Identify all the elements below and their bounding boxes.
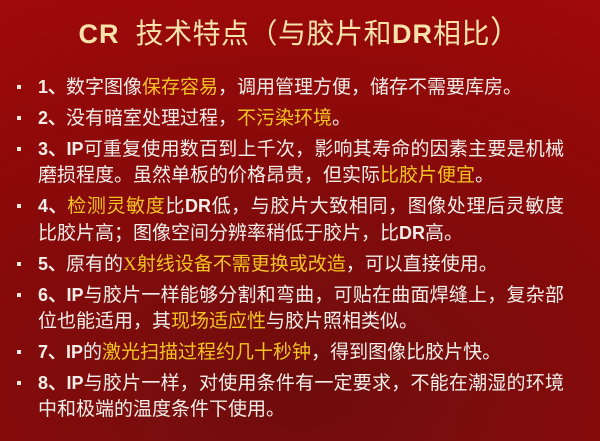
slide-title: CR技术特点（与胶片和DR相比） bbox=[0, 16, 600, 52]
bullet-item-text: 8、IP与胶片一样，对使用条件有一定要求，不能在潮湿的环境中和极端的温度条件下使… bbox=[38, 370, 564, 423]
title-segment-han: 相比 bbox=[433, 19, 490, 50]
text-run-latin: DR bbox=[399, 223, 425, 243]
text-run-highlight: 现场适应性 bbox=[171, 311, 266, 332]
text-run: ，可以直接使用。 bbox=[346, 254, 498, 275]
text-run: 。 bbox=[332, 108, 351, 129]
title-closing-paren: ） bbox=[490, 15, 522, 50]
text-run-latin: IP bbox=[66, 373, 83, 393]
text-run-latin: 7、 bbox=[38, 342, 66, 362]
bullet-item: 5、原有的X射线设备不需更换或改造，可以直接使用。 bbox=[0, 251, 600, 278]
bullet-marker-icon bbox=[17, 381, 21, 385]
text-run-latin: 4、 bbox=[38, 196, 67, 216]
text-run-highlight: 激光扫描过程约几十秒钟 bbox=[102, 342, 311, 363]
bullet-item: 6、IP与胶片一样能够分割和弯曲，可贴在曲面焊缝上，复杂部位也能适用，其现场适应… bbox=[0, 282, 600, 335]
text-run: 的 bbox=[83, 342, 102, 363]
text-run: 比 bbox=[165, 196, 185, 217]
bullet-item-text: 1、数字图像保存容易，调用管理方便，储存不需要库房。 bbox=[38, 74, 564, 101]
text-run-highlight: 保存容易 bbox=[142, 77, 218, 98]
bullet-marker-icon bbox=[17, 85, 21, 89]
bullet-marker-icon bbox=[17, 293, 21, 297]
bullet-item: 4、检测灵敏度比DR低，与胶片大致相同，图像处理后灵敏度比胶片高；图像空间分辨率… bbox=[0, 193, 600, 247]
text-run-latin: 3、 bbox=[38, 139, 66, 159]
text-run-latin: 6、 bbox=[38, 285, 66, 305]
text-run-latin: DR bbox=[185, 196, 211, 216]
text-run-highlight: X bbox=[123, 254, 137, 275]
bullet-list: 1、数字图像保存容易，调用管理方便，储存不需要库房。2、没有暗室处理过程，不污染… bbox=[0, 74, 600, 427]
text-run: 没有暗室处理过程， bbox=[66, 108, 237, 129]
title-segment-latin: DR bbox=[392, 19, 433, 49]
text-run-latin: 8、 bbox=[38, 373, 66, 393]
bullet-item: 7、IP的激光扫描过程约几十秒钟，得到图像比胶片快。 bbox=[0, 339, 600, 366]
bullet-item-text: 3、IP可重复使用数百到上千次，影响其寿命的因素主要是机械磨损程度。虽然单板的价… bbox=[38, 136, 564, 189]
text-run-latin: 1、 bbox=[38, 77, 66, 97]
bullet-marker-icon bbox=[17, 350, 21, 354]
title-segment-latin: CR bbox=[78, 19, 119, 49]
bullet-item: 8、IP与胶片一样，对使用条件有一定要求，不能在潮湿的环境中和极端的温度条件下使… bbox=[0, 370, 600, 423]
text-run-latin: IP bbox=[66, 285, 83, 305]
text-run-highlight: 不污染环境 bbox=[237, 108, 332, 129]
text-run: 与胶片一样，对使用条件有一定要求，不能在潮湿的环境中和极端的温度条件下使用。 bbox=[38, 373, 564, 420]
bullet-item-text: 5、原有的X射线设备不需更换或改造，可以直接使用。 bbox=[38, 251, 564, 278]
bullet-item-text: 6、IP与胶片一样能够分割和弯曲，可贴在曲面焊缝上，复杂部位也能适用，其现场适应… bbox=[38, 282, 564, 335]
bullet-marker-icon bbox=[17, 147, 21, 151]
text-run-highlight: 检测灵敏度 bbox=[67, 196, 165, 217]
bullet-item-text: 4、检测灵敏度比DR低，与胶片大致相同，图像处理后灵敏度比胶片高；图像空间分辨率… bbox=[38, 193, 564, 247]
text-run-latin: IP bbox=[66, 342, 83, 362]
text-run: ，得到图像比胶片快。 bbox=[311, 342, 501, 363]
bullet-marker-icon bbox=[17, 262, 21, 266]
text-run: ，调用管理方便，储存不需要库房。 bbox=[218, 77, 522, 98]
text-run: 与胶片照相类似。 bbox=[266, 311, 418, 332]
bullet-marker-icon bbox=[17, 204, 21, 208]
text-run: 原有的 bbox=[66, 254, 123, 275]
bullet-item: 3、IP可重复使用数百到上千次，影响其寿命的因素主要是机械磨损程度。虽然单板的价… bbox=[0, 136, 600, 189]
bullet-item: 1、数字图像保存容易，调用管理方便，储存不需要库房。 bbox=[0, 74, 600, 101]
bullet-marker-icon bbox=[17, 116, 21, 120]
bullet-item: 2、没有暗室处理过程，不污染环境。 bbox=[0, 105, 600, 132]
text-run-latin: IP bbox=[66, 139, 83, 159]
bullet-item-text: 2、没有暗室处理过程，不污染环境。 bbox=[38, 105, 564, 132]
text-run-highlight: 比胶片便宜 bbox=[380, 165, 475, 186]
presentation-slide: CR技术特点（与胶片和DR相比） 1、数字图像保存容易，调用管理方便，储存不需要… bbox=[0, 0, 600, 441]
text-run: 。 bbox=[475, 165, 494, 186]
text-run-latin: 5、 bbox=[38, 254, 66, 274]
text-run: 高。 bbox=[425, 223, 463, 244]
text-run-highlight: 射线设备不需更换或改造 bbox=[137, 254, 346, 275]
title-segment-han: 技术特点（与胶片和 bbox=[135, 19, 392, 50]
slide-title-text: CR技术特点（与胶片和DR相比） bbox=[78, 16, 521, 52]
text-run-latin: 2、 bbox=[38, 108, 66, 128]
bullet-item-text: 7、IP的激光扫描过程约几十秒钟，得到图像比胶片快。 bbox=[38, 339, 564, 366]
text-run: 数字图像 bbox=[66, 77, 142, 98]
